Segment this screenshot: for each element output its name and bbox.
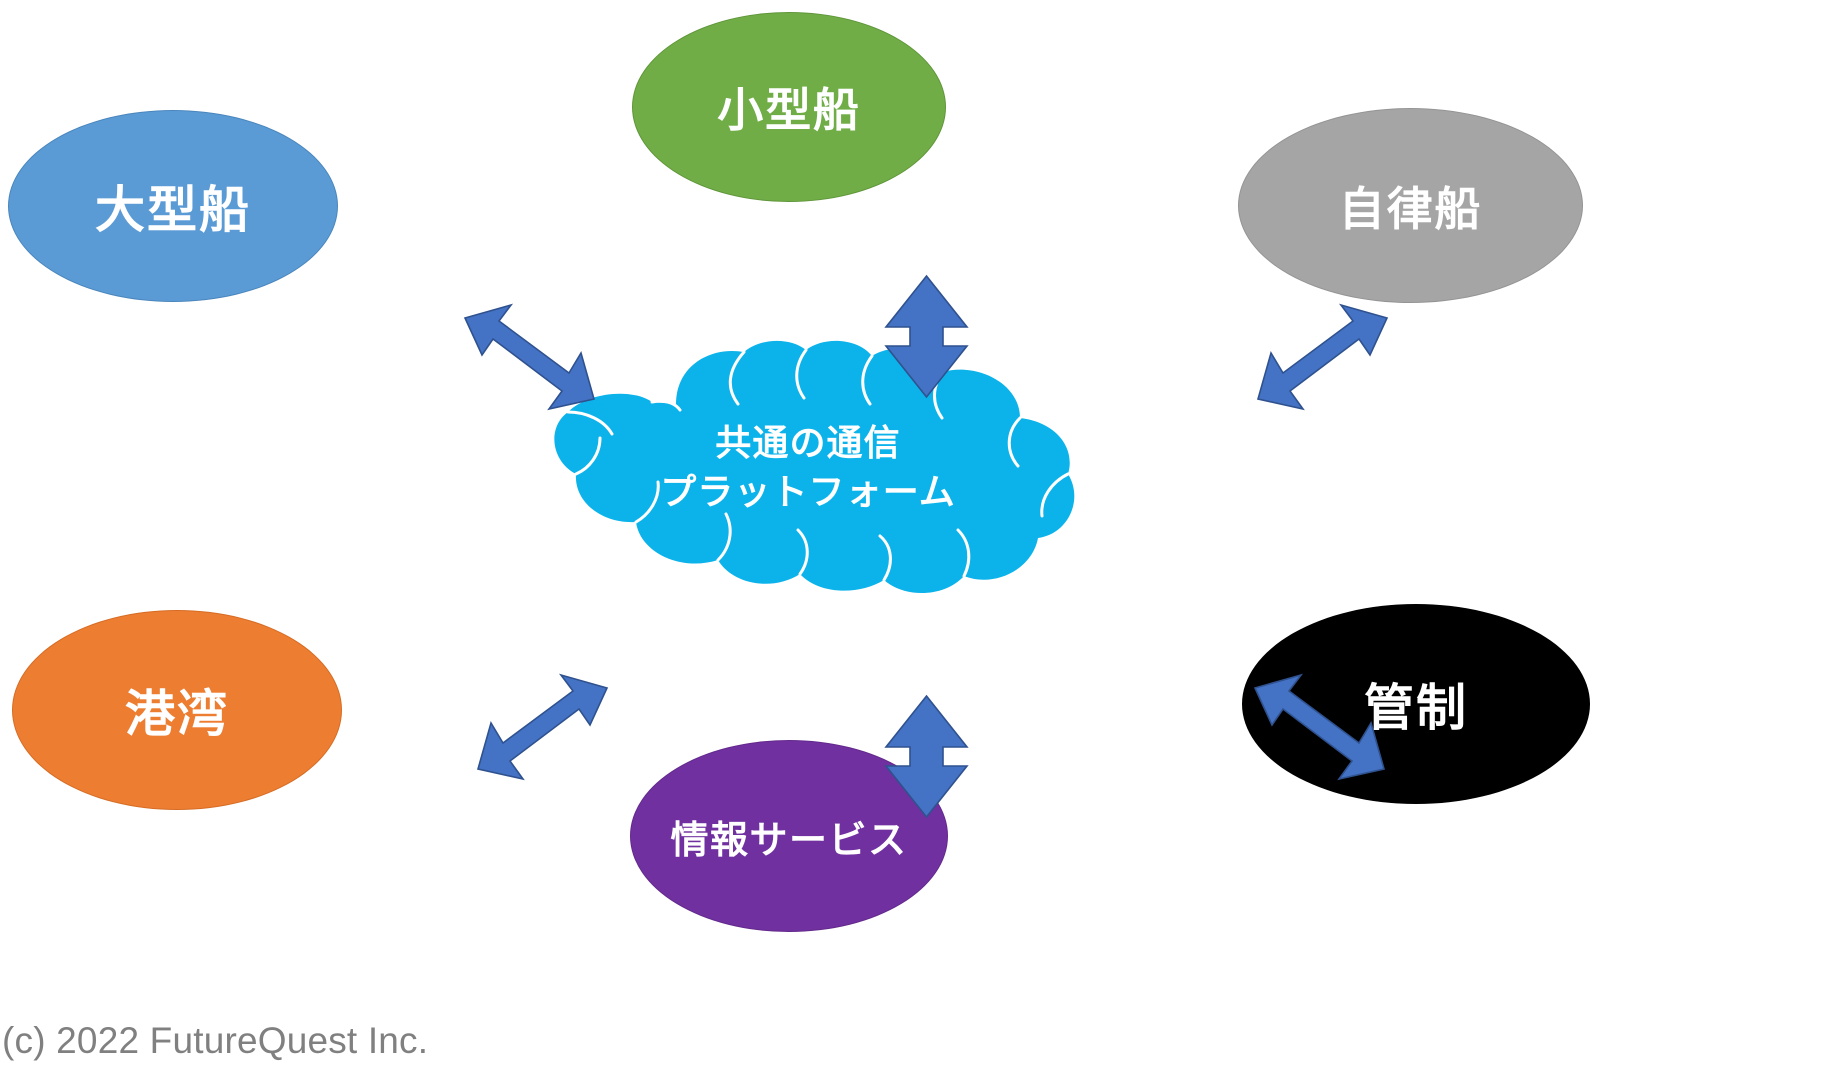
double-headed-arrow-shape	[886, 696, 967, 817]
node-port-label: 港湾	[125, 674, 229, 746]
connector-arrow-traffic-control	[1251, 651, 1401, 782]
node-large-vessel-label: 大型船	[95, 170, 251, 242]
double-headed-arrow-shape	[465, 305, 594, 409]
double-headed-arrow-shape	[478, 675, 607, 779]
double-headed-arrow-shape	[1258, 305, 1387, 409]
connector-arrow-autonomous-vessel	[1241, 281, 1391, 412]
node-autonomous-vessel[interactable]: 自律船	[1238, 108, 1583, 303]
node-port[interactable]: 港湾	[12, 610, 342, 810]
cloud-platform-shape[interactable]: 共通の通信 プラットフォーム	[528, 340, 1088, 595]
connector-arrow-small-vessel	[881, 271, 972, 402]
connector-arrow-port	[461, 651, 611, 782]
connector-arrow-information-service	[881, 691, 972, 822]
node-small-vessel[interactable]: 小型船	[632, 12, 946, 202]
node-information-service-label: 情報サービス	[670, 809, 907, 864]
cloud-body	[554, 341, 1074, 593]
double-headed-arrow-shape	[886, 276, 967, 397]
node-small-vessel-label: 小型船	[717, 74, 861, 140]
copyright-notice: (c) 2022 FutureQuest Inc.	[2, 1020, 428, 1062]
diagram-canvas: 大型船 小型船 自律船 港湾 管制 情報サービス	[0, 0, 1836, 1076]
connector-arrow-large-vessel	[461, 281, 611, 412]
node-large-vessel[interactable]: 大型船	[8, 110, 338, 302]
node-autonomous-vessel-label: 自律船	[1339, 173, 1483, 239]
double-headed-arrow-shape	[1255, 675, 1384, 779]
